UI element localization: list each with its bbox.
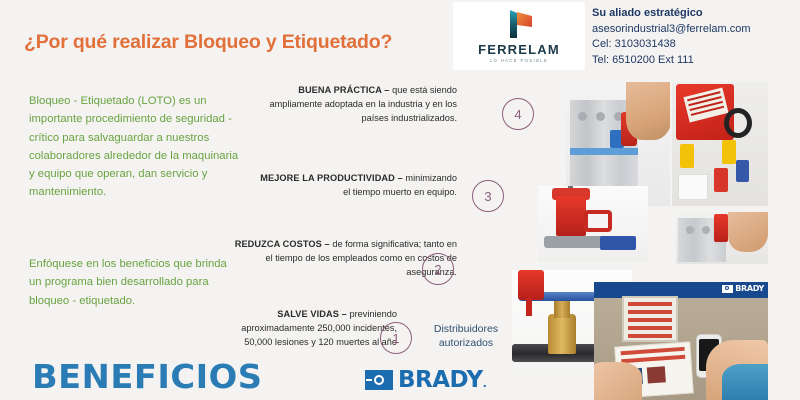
hand-shape — [626, 82, 670, 140]
hand-shape — [594, 362, 642, 400]
benefit-item-3: MEJORE LA PRODUCTIVIDAD – minimizando el… — [252, 172, 457, 200]
brady-wordmark-dot: . — [483, 377, 487, 390]
red-lockout-box-shape — [676, 84, 734, 140]
benefit-3-dash: – — [395, 173, 406, 183]
photo-people-with-brochure: BRADY — [594, 282, 768, 400]
contact-email[interactable]: asesorindustrial3@ferrelam.com — [592, 22, 800, 38]
hand-shape — [728, 212, 768, 252]
yellow-padlock-shape — [722, 140, 736, 164]
contact-slogan: Su aliado estratégico — [592, 6, 800, 22]
benefit-item-1: SALVE VIDAS – previniendo aproximadament… — [212, 308, 397, 350]
brady-wordmark: BRADY. — [398, 367, 486, 393]
ferrelam-logo-tagline: LO HACE POSIBLE — [490, 58, 548, 63]
red-padlock-shape — [714, 168, 728, 192]
lead-paragraph-1: Bloqueo - Etiquetado (LOTO) es un import… — [29, 92, 241, 202]
benefit-number-1: 1 — [380, 322, 412, 354]
breaker-stripe-shape — [570, 148, 638, 155]
brady-logo: BRADY. — [365, 367, 486, 393]
white-tag-shape — [678, 174, 708, 200]
warning-label-shape — [683, 88, 728, 123]
valve-clamp-shape — [584, 210, 612, 232]
person-shoulder-shape — [722, 364, 768, 400]
breaker-small-knob-shape — [686, 226, 694, 234]
distributor-line-1: Distribuidores — [414, 322, 518, 336]
brady-ring-shape — [374, 375, 384, 385]
poster-board-shape — [622, 296, 678, 342]
page-title: ¿Por qué realizar Bloqueo y Etiquetado? — [24, 31, 392, 54]
benefit-1-heading: SALVE VIDAS — [277, 309, 339, 319]
breaker-knob-shape — [596, 112, 605, 121]
red-lockout-cage-shape — [518, 270, 544, 300]
valve-body-shape — [556, 196, 586, 236]
brass-valve-body-shape — [548, 314, 576, 354]
breaker-small-knob-shape — [702, 226, 710, 234]
breaker-knob-shape — [578, 112, 587, 121]
ferrelam-logo-card: FERRELAM LO HACE POSIBLE — [453, 2, 585, 70]
contact-block: Su aliado estratégico asesorindustrial3@… — [592, 6, 800, 68]
red-lockout-small-shape — [714, 214, 728, 242]
brady-watermark-text: BRADY — [735, 284, 764, 293]
infographic-canvas: FERRELAM LO HACE POSIBLE Su aliado estra… — [0, 0, 800, 400]
brady-logo-icon — [365, 370, 393, 390]
distributor-label: Distribuidores autorizados — [414, 322, 518, 350]
benefit-4-heading: BUENA PRÁCTICA — [298, 85, 381, 95]
lead-paragraph-2: Enfóquese en los beneficios que brinda u… — [29, 255, 241, 310]
brady-watermark-icon — [722, 285, 733, 293]
benefit-2-heading: REDUZCA COSTOS — [235, 239, 322, 249]
benefit-2-dash: – — [322, 239, 333, 249]
photo-breaker-small-lockout — [676, 212, 768, 264]
yellow-padlock-shape — [680, 144, 694, 168]
photo-lockout-box-and-hasp — [672, 82, 768, 206]
benefit-4-dash: – — [382, 85, 393, 95]
blue-padlock-shape — [736, 160, 749, 182]
benefit-3-heading: MEJORE LA PRODUCTIVIDAD — [260, 173, 395, 183]
distributor-line-2: autorizados — [414, 336, 518, 350]
black-hasp-shape — [724, 108, 752, 138]
benefit-number-4: 4 — [502, 98, 534, 130]
ferrelam-logo-icon — [496, 9, 542, 39]
ferrelam-logo-wordmark: FERRELAM — [478, 42, 560, 57]
benefit-number-2: 2 — [422, 253, 454, 285]
photo-valve-lockout-device — [538, 186, 648, 262]
section-heading-beneficios: BENEFICIOS — [32, 357, 263, 396]
benefit-number-3: 3 — [472, 180, 504, 212]
benefit-1-dash: – — [339, 309, 350, 319]
brady-bar-shape — [366, 379, 372, 381]
brass-valve-neck-shape — [554, 298, 570, 318]
brochure-image-shape — [647, 366, 666, 383]
blue-device-shape — [600, 236, 636, 250]
brady-wordmark-text: BRADY — [398, 367, 483, 393]
contact-mobile: Cel: 3103031438 — [592, 37, 800, 53]
brady-watermark-logo: BRADY — [722, 284, 764, 293]
benefit-item-4: BUENA PRÁCTICA – que está siendo ampliam… — [252, 84, 457, 126]
contact-phone: Tel: 6510200 Ext 111 — [592, 53, 800, 69]
red-lockout-pin-shape — [526, 298, 532, 316]
